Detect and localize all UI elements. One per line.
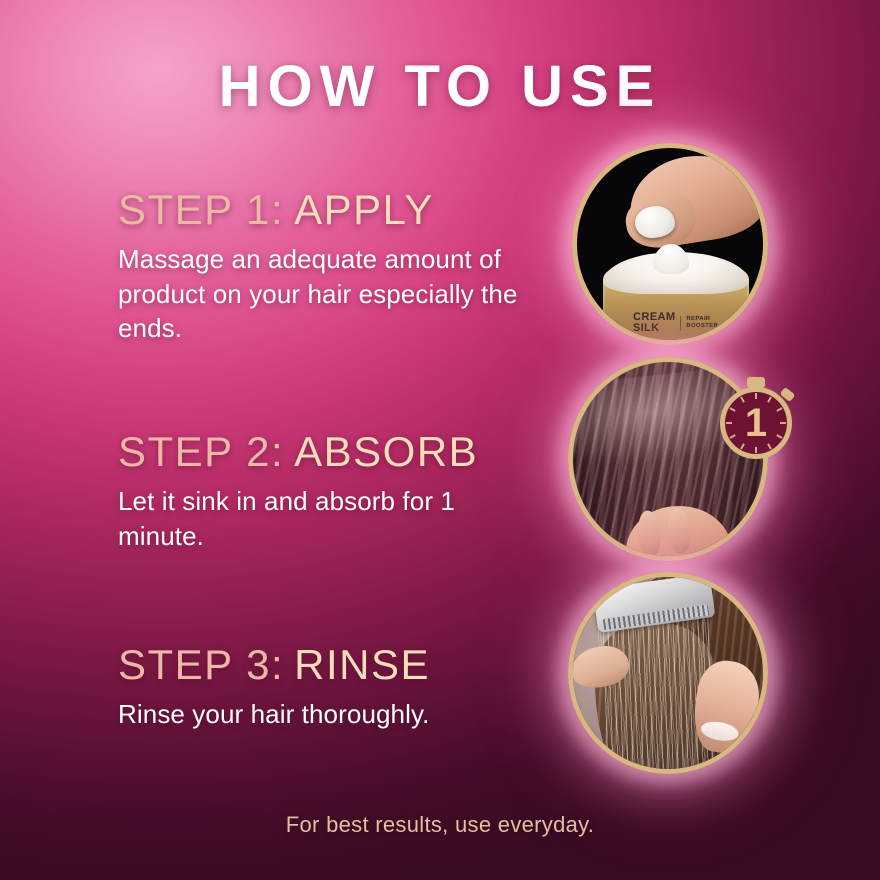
step-3-action: RINSE <box>294 641 430 688</box>
step-1-label: STEP 1: <box>118 186 284 233</box>
footer-note: For best results, use everyday. <box>0 812 880 838</box>
step-item-3: STEP 3:RINSE Rinse your hair thoroughly. <box>118 641 548 732</box>
step-3-photo-inner <box>573 577 763 769</box>
page-title: HOW TO USE <box>0 58 880 116</box>
step-1-body: Massage an adequate amount of product on… <box>118 242 548 346</box>
step-1-photo: CREAM SILK REPAIR BOOSTER <box>572 143 768 345</box>
product-variant-line-2: BOOSTER <box>686 323 718 331</box>
step-2-title: STEP 2:ABSORB <box>118 428 548 475</box>
step-3-body: Rinse your hair thoroughly. <box>118 697 548 732</box>
step-item-1: STEP 1:APPLY Massage an adequate amount … <box>118 186 548 346</box>
stopwatch-icon: 1 <box>716 377 796 457</box>
product-brand: CREAM SILK <box>633 312 676 334</box>
how-to-use-poster: HOW TO USE STEP 1:APPLY Massage an adequ… <box>0 0 880 880</box>
step-2-label: STEP 2: <box>118 428 284 475</box>
step-3-photo <box>568 572 768 774</box>
step-1-title: STEP 1:APPLY <box>118 186 548 233</box>
step-1-photo-inner: CREAM SILK REPAIR BOOSTER <box>577 148 763 340</box>
cream-dollop-icon <box>635 206 675 238</box>
step-item-2: STEP 2:ABSORB Let it sink in and absorb … <box>118 428 548 553</box>
step-3-label: STEP 3: <box>118 641 284 688</box>
step-3-title: STEP 3:RINSE <box>118 641 548 688</box>
step-1-action: APPLY <box>294 186 434 233</box>
product-variant: REPAIR BOOSTER <box>680 316 718 331</box>
step-2-action: ABSORB <box>294 428 478 475</box>
product-label: CREAM SILK REPAIR BOOSTER <box>633 312 719 334</box>
stopwatch-value: 1 <box>720 387 792 459</box>
step-2-body: Let it sink in and absorb for 1 minute. <box>118 484 548 553</box>
product-brand-line-2: SILK <box>633 323 676 334</box>
product-variant-line-1: REPAIR <box>686 316 718 324</box>
